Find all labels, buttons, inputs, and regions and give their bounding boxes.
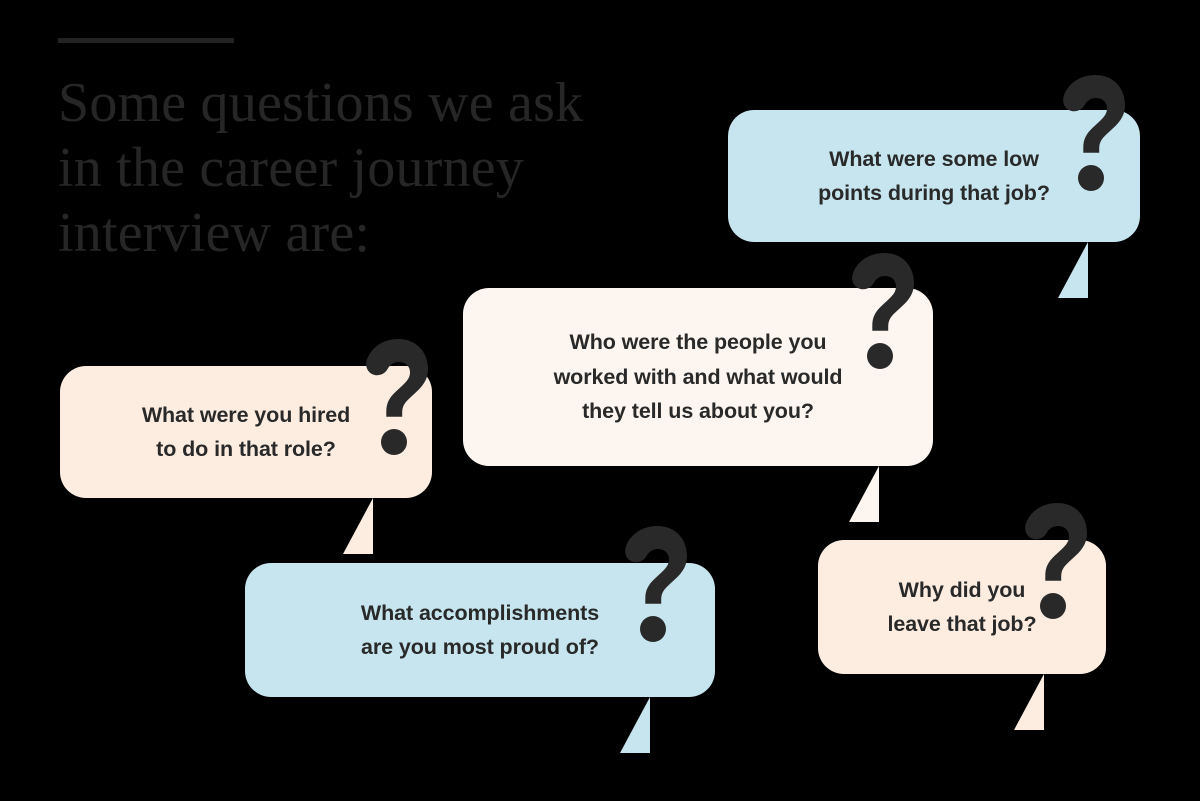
bubble-tail [343, 498, 373, 554]
question-mark-icon [623, 525, 695, 653]
page-title: Some questions we ask in the career jour… [58, 71, 678, 266]
bubble-tail [1058, 242, 1088, 298]
heading-block: Some questions we ask in the career jour… [58, 38, 678, 266]
question-mark-icon [364, 338, 436, 466]
speech-bubble-what-were-you-hired[interactable]: What were you hired to do in that role? [60, 366, 432, 498]
bubble-question-text: What were some low points during that jo… [808, 142, 1060, 211]
bubble-question-text: Who were the people you worked with and … [544, 325, 853, 428]
speech-bubble-why-leave[interactable]: Why did you leave that job? [818, 540, 1106, 674]
question-mark-icon [1061, 74, 1133, 202]
question-mark-icon [850, 252, 922, 380]
heading-rule [58, 38, 234, 43]
bubble-tail [620, 697, 650, 753]
poster-canvas: Some questions we ask in the career jour… [0, 0, 1200, 801]
speech-bubble-low-points[interactable]: What were some low points during that jo… [728, 110, 1140, 242]
bubble-tail [1014, 674, 1044, 730]
speech-bubble-accomplishments[interactable]: What accomplishments are you most proud … [245, 563, 715, 697]
bubble-tail [849, 466, 879, 522]
speech-bubble-people-you-worked-with[interactable]: Who were the people you worked with and … [463, 288, 933, 466]
bubble-question-text: What were you hired to do in that role? [132, 398, 360, 467]
bubble-question-text: What accomplishments are you most proud … [351, 596, 609, 665]
bubble-question-text: Why did you leave that job? [877, 573, 1046, 642]
